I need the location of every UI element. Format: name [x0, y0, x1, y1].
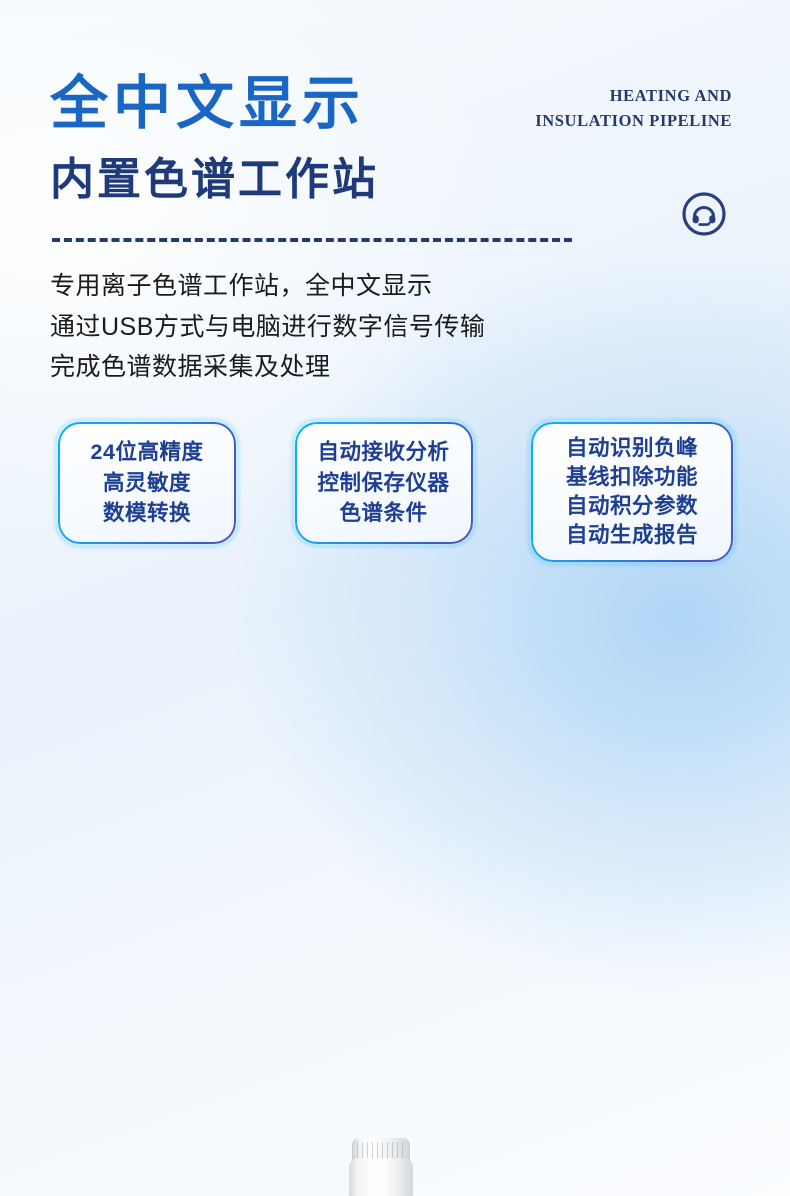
feature-box-1-text: 24位高精度 高灵敏度 数模转换	[91, 437, 204, 529]
feature-box-1-line-1: 24位高精度	[91, 437, 204, 468]
header-english-line-2: INSULATION PIPELINE	[432, 109, 732, 134]
feature-box-3-line-3: 自动积分参数	[566, 492, 698, 521]
feature-box-2-line-1: 自动接收分析	[317, 437, 449, 468]
product-promo-page: HEATING AND INSULATION PIPELINE 全中文显示 内置…	[0, 0, 790, 1196]
feature-box-1-line-3: 数模转换	[91, 498, 204, 529]
feature-box-3: 自动识别负峰 基线扣除功能 自动积分参数 自动生成报告	[531, 422, 733, 562]
feature-box-3-line-4: 自动生成报告	[566, 521, 698, 550]
feature-box-2-line-2: 控制保存仪器	[317, 468, 449, 499]
description-line-2: 通过USB方式与电脑进行数字信号传输	[50, 307, 670, 348]
header-english-caption: HEATING AND INSULATION PIPELINE	[432, 84, 732, 134]
description-line-1: 专用离子色谱工作站，全中文显示	[50, 266, 670, 307]
feature-box-group: 24位高精度 高灵敏度 数模转换 自动接收分析 控制保存仪器 色谱条件 自动识别…	[58, 422, 733, 562]
column-cap-ribs	[357, 1142, 405, 1158]
page-subtitle: 内置色谱工作站	[50, 158, 379, 202]
feature-box-1: 24位高精度 高灵敏度 数模转换	[58, 422, 236, 544]
feature-box-3-text: 自动识别负峰 基线扣除功能 自动积分参数 自动生成报告	[566, 434, 698, 551]
column-body	[349, 1158, 413, 1196]
feature-box-3-line-1: 自动识别负峰	[566, 434, 698, 463]
feature-box-2-line-3: 色谱条件	[317, 498, 449, 529]
feature-box-2-text: 自动接收分析 控制保存仪器 色谱条件	[317, 437, 449, 529]
feature-box-3-line-2: 基线扣除功能	[566, 463, 698, 492]
product-image-ion-chromatograph: 离子色谱仪	[0, 560, 790, 1196]
dashed-divider	[52, 238, 572, 242]
description-line-3: 完成色谱数据采集及处理	[50, 347, 670, 388]
feature-box-1-line-2: 高灵敏度	[91, 468, 204, 499]
page-title: 全中文显示	[50, 75, 365, 133]
feature-box-2: 自动接收分析 控制保存仪器 色谱条件	[295, 422, 473, 544]
header-english-line-1: HEATING AND	[432, 84, 732, 109]
description-block: 专用离子色谱工作站，全中文显示 通过USB方式与电脑进行数字信号传输 完成色谱数…	[50, 266, 670, 388]
headset-icon	[680, 190, 728, 238]
